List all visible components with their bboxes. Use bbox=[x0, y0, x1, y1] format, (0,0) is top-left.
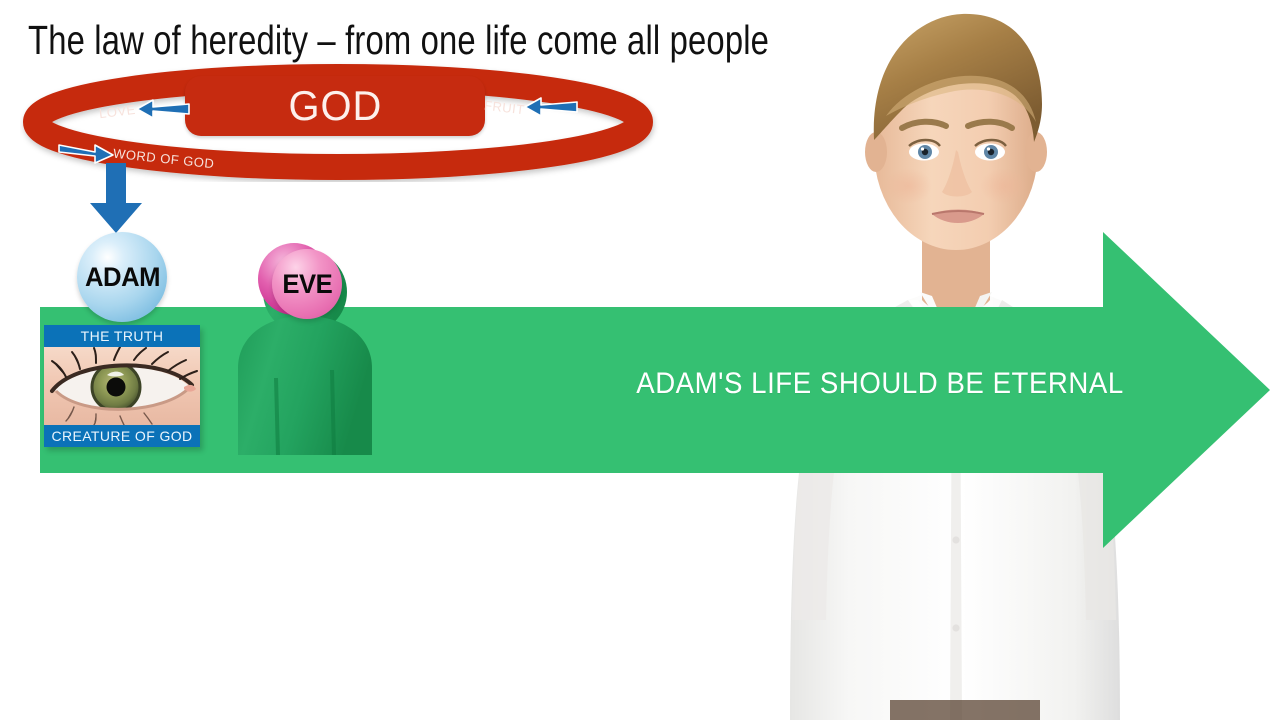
adam-label: ADAM bbox=[84, 262, 159, 293]
arrow-down-icon bbox=[88, 163, 144, 235]
truth-card-footer: CREATURE OF GOD bbox=[44, 425, 200, 447]
eye-photo bbox=[44, 347, 200, 425]
truth-card-header: THE TRUTH bbox=[44, 325, 200, 347]
god-label: GOD bbox=[288, 82, 382, 130]
arrow-left-love-icon bbox=[133, 98, 191, 120]
eve-sphere: EVE bbox=[272, 249, 342, 319]
slide-canvas: The law of heredity – from one life come… bbox=[0, 0, 1280, 720]
page-title: The law of heredity – from one life come… bbox=[28, 16, 769, 64]
truth-card: THE TRUTH bbox=[44, 325, 200, 447]
god-box: GOD bbox=[185, 76, 485, 136]
adam-sphere: ADAM bbox=[77, 232, 167, 322]
arrow-left-fruit-icon bbox=[521, 96, 579, 118]
arrow-label: ADAM'S LIFE SHOULD BE ETERNAL bbox=[622, 367, 1137, 401]
arrow-right-word-of-god-icon bbox=[57, 141, 117, 165]
presenter-photo bbox=[790, 0, 1120, 720]
eve-label: EVE bbox=[282, 269, 332, 300]
